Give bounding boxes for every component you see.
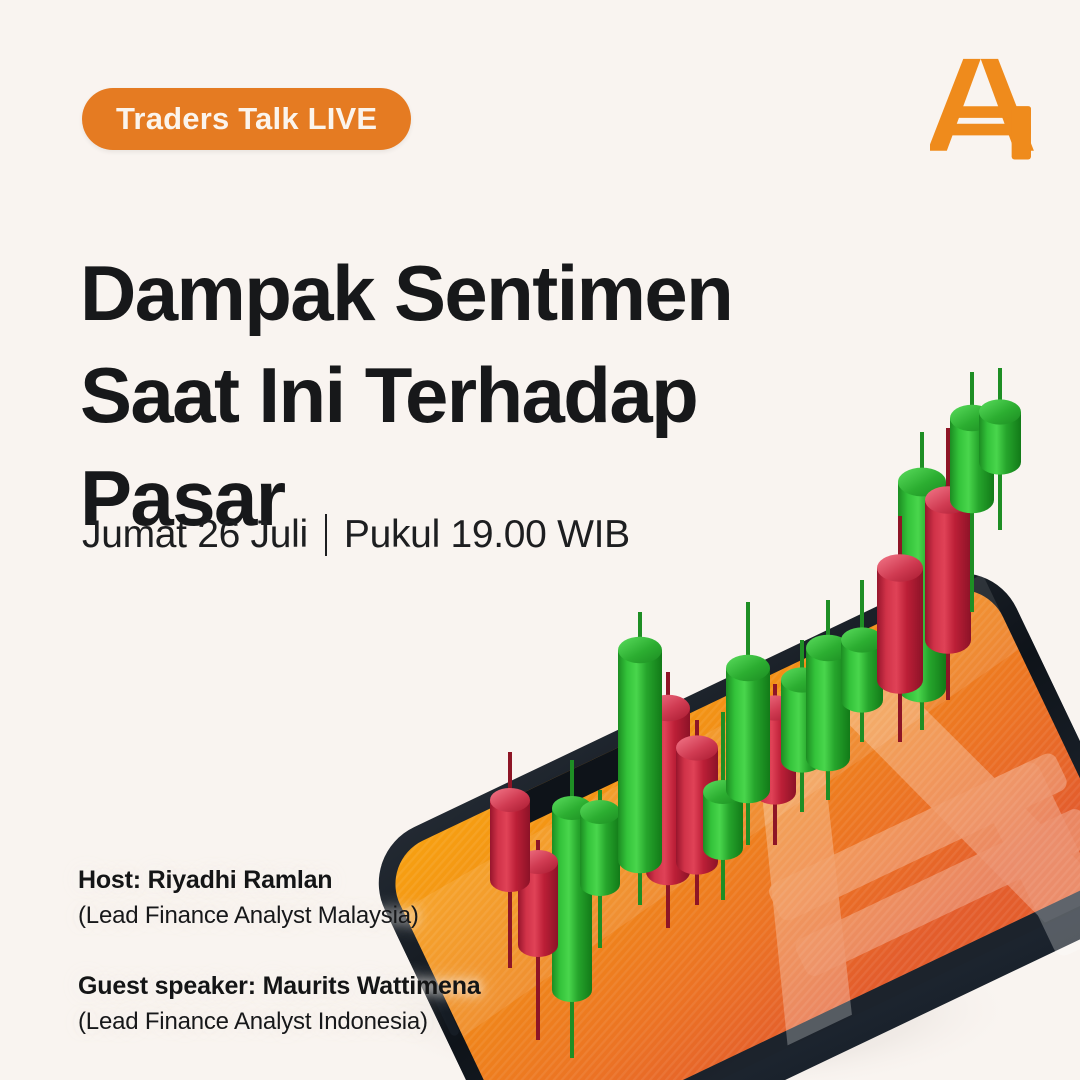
brand-a-watermark [655,610,1080,1080]
speaker-credits: Host: Riyadhi Ramlan (Lead Finance Analy… [78,866,481,1036]
live-badge[interactable]: Traders Talk LIVE [82,88,411,150]
candle-body [490,800,530,892]
candle-cap [580,800,620,824]
candlestick [754,684,796,845]
candlestick [950,372,994,612]
candle-body [618,650,662,873]
candlestick [925,428,971,700]
candle-body [979,412,1021,475]
event-schedule: Jumat 26 Juli Pukul 19.00 WIB [82,513,630,557]
candle-body [898,482,946,702]
candlestick [676,720,718,905]
candlestick [703,712,743,900]
candle-body [781,680,823,773]
candle-cap [925,486,971,514]
page-title: Dampak Sentimen Saat Ini Terhadap Pasar [80,242,800,549]
credit-guest: Guest speaker: Maurits Wattimena (Lead F… [78,972,481,1036]
host-role: (Lead Finance Analyst Malaysia) [78,902,481,930]
event-time: Pukul 19.00 WIB [344,513,630,557]
candle-cap [806,635,850,661]
logo-a-left-stroke [930,59,981,151]
candle-cap [618,637,662,663]
candle-cap [703,780,743,804]
candle-cap [726,655,770,681]
candle-cap [490,788,530,812]
screen-gloss [379,574,1065,1037]
screen-stripe-texture [379,574,1080,1080]
candlestick [646,672,690,928]
candlestick [580,790,620,948]
candle-body [841,640,883,713]
candle-cap [979,399,1021,424]
host-name: Host: Riyadhi Ramlan [78,866,481,895]
phone-screen [379,574,1080,1080]
candle-cap [754,695,796,720]
candlestick [618,612,662,905]
candlestick [726,602,770,845]
candle-cap [646,695,690,721]
guest-role: (Lead Finance Analyst Indonesia) [78,1008,481,1036]
candle-body [703,792,743,860]
candlestick [490,752,530,968]
candlestick [841,580,883,742]
candlestick [979,368,1021,530]
phone-notch [493,734,659,834]
candle-cap [877,554,923,582]
headline-line-2: Saat Ini Terhadap [80,344,800,446]
candle-body [552,808,592,1002]
poster-canvas: Traders Talk LIVE Dampak Sentimen Saat I… [0,0,1080,1080]
candlestick [877,516,923,742]
candle-body [754,708,796,805]
candlestick [806,600,850,800]
live-badge-label: Traders Talk LIVE [116,101,377,137]
candle-body [580,812,620,896]
candle-cap [950,405,994,431]
candle-body [676,748,718,875]
event-date: Jumat 26 Juli [82,513,308,557]
candle-cap [552,796,592,820]
candle-body [925,500,971,654]
candle-body [518,862,558,957]
logo-descender [1012,106,1031,159]
candle-cap [518,850,558,874]
candlestick [518,840,558,1040]
guest-name: Guest speaker: Maurits Wattimena [78,972,481,1001]
candle-body [726,668,770,803]
candle-body [950,418,994,513]
candlestick [552,760,592,1058]
candlestick [898,432,946,730]
brand-a-logo [930,56,1042,160]
candle-body [877,568,923,694]
candle-body [806,648,850,771]
candle-cap [841,627,883,652]
candle-body [646,708,690,885]
credit-host: Host: Riyadhi Ramlan (Lead Finance Analy… [78,866,481,930]
candle-cap [781,667,823,692]
schedule-separator [325,514,327,556]
headline-line-1: Dampak Sentimen [80,242,800,344]
candle-cap [898,468,946,497]
candlestick [781,640,823,812]
candle-cap [676,735,718,760]
